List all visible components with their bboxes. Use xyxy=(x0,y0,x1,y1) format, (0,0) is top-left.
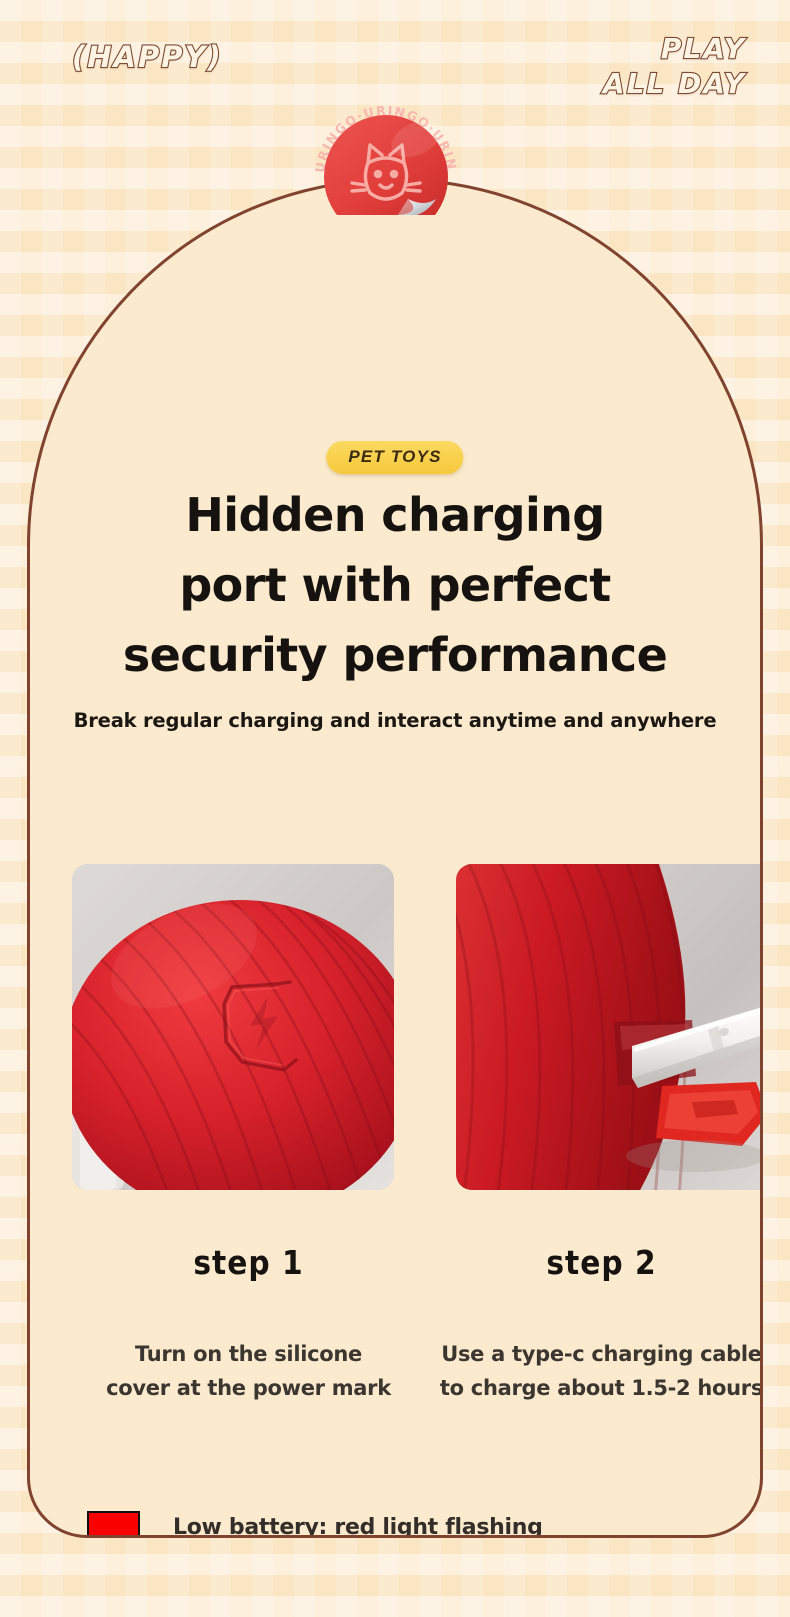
headline-line-2: port with perfect xyxy=(30,551,760,621)
headline-line-1: Hidden charging xyxy=(30,481,760,551)
happy-text: (HAPPY) xyxy=(72,40,223,74)
step-2-column: step 2 Use a type-c charging cable to ch… xyxy=(425,1243,763,1405)
step-1-desc-line-1: Turn on the silicone xyxy=(72,1338,425,1372)
steps-row: step 1 Turn on the silicone cover at the… xyxy=(72,1243,763,1405)
step-1-description: Turn on the silicone cover at the power … xyxy=(72,1338,425,1405)
battery-status-legend: Low battery: red light flashing Charging… xyxy=(87,1511,763,1538)
step-1-column: step 1 Turn on the silicone cover at the… xyxy=(72,1243,425,1405)
legend-label-low-battery: Low battery: red light flashing xyxy=(173,1515,543,1538)
step-1-title: step 1 xyxy=(72,1243,425,1282)
category-badge: PET TOYS xyxy=(326,441,463,474)
page-title: Hidden charging port with perfect securi… xyxy=(30,481,760,691)
tagline-line-2: ALL DAY xyxy=(603,66,746,101)
step-2-desc-line-2: to charge about 1.5-2 hours xyxy=(425,1372,763,1406)
step-2-title: step 2 xyxy=(425,1243,763,1282)
legend-row-low-battery: Low battery: red light flashing xyxy=(87,1511,763,1538)
step-2-desc-line-1: Use a type-c charging cable xyxy=(425,1338,763,1372)
product-info-card: PET TOYS Hidden charging port with perfe… xyxy=(27,178,763,1538)
headline-line-3: security performance xyxy=(30,621,760,691)
step-1-photo xyxy=(72,864,394,1190)
step-2-photo xyxy=(456,864,763,1190)
step-2-description: Use a type-c charging cable to charge ab… xyxy=(425,1338,763,1405)
step-1-desc-line-2: cover at the power mark xyxy=(72,1372,425,1406)
tagline: PLAY ALL DAY xyxy=(603,31,746,101)
silicone-flap xyxy=(656,1082,763,1146)
red-light-swatch xyxy=(87,1511,140,1538)
tagline-line-1: PLAY xyxy=(603,31,746,66)
photo-row xyxy=(72,864,763,1190)
subtitle: Break regular charging and interact anyt… xyxy=(30,709,760,732)
brand-sticker: URINGO·URINGO·URINGO· xyxy=(312,103,460,215)
